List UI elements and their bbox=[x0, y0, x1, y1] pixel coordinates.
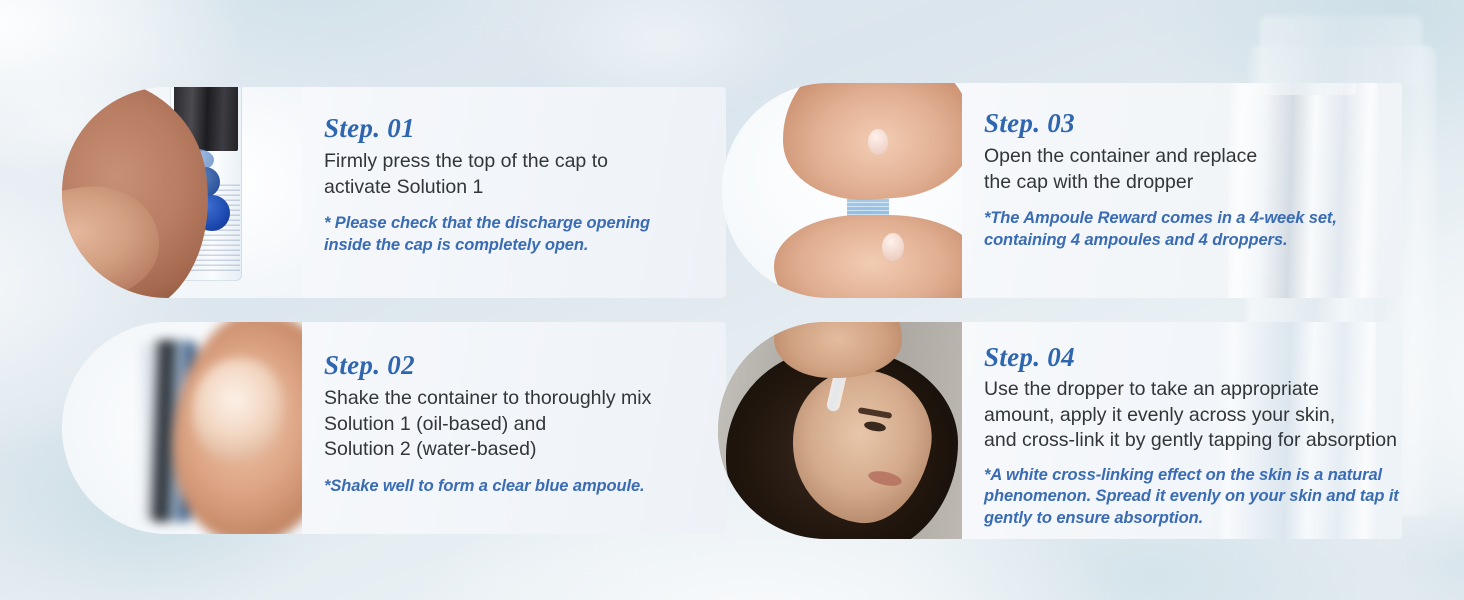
step-card-01: Step. 01 Firmly press the top of the cap… bbox=[62, 87, 726, 298]
step-02-title: Step. 02 bbox=[324, 352, 726, 379]
step-01-image bbox=[62, 87, 302, 298]
step-01-body: Firmly press the top of the cap to activ… bbox=[324, 149, 726, 200]
step-04-title: Step. 04 bbox=[984, 344, 1402, 371]
step-01-text-panel: Step. 01 Firmly press the top of the cap… bbox=[302, 87, 726, 298]
step-03-image bbox=[722, 83, 962, 298]
photo-opening-ampoule-cap bbox=[722, 83, 962, 298]
step-01-note: * Please check that the discharge openin… bbox=[324, 213, 726, 257]
step-card-02: Step. 02 Shake the container to thorough… bbox=[62, 322, 726, 534]
photo-applying-dropper-to-face bbox=[718, 322, 962, 539]
step-02-text-panel: Step. 02 Shake the container to thorough… bbox=[302, 322, 726, 534]
step-02-image bbox=[62, 322, 302, 534]
step-01-title: Step. 01 bbox=[324, 115, 726, 142]
step-03-text-panel: Step. 03 Open the container and replace … bbox=[962, 83, 1402, 298]
step-card-03: Step. 03 Open the container and replace … bbox=[722, 83, 1402, 298]
step-04-image bbox=[718, 322, 962, 539]
step-04-text-panel: Step. 04 Use the dropper to take an appr… bbox=[962, 322, 1402, 539]
step-03-body: Open the container and replace the cap w… bbox=[984, 144, 1402, 195]
step-04-note: *A white cross-linking effect on the ski… bbox=[984, 465, 1402, 530]
step-02-body: Shake the container to thoroughly mix So… bbox=[324, 386, 726, 463]
step-03-title: Step. 03 bbox=[984, 110, 1402, 137]
photo-hand-holding-ampoule bbox=[62, 87, 302, 298]
step-card-04: Step. 04 Use the dropper to take an appr… bbox=[718, 322, 1402, 539]
photo-shaking-ampoule bbox=[62, 322, 302, 534]
step-02-note: *Shake well to form a clear blue ampoule… bbox=[324, 476, 726, 498]
step-04-body: Use the dropper to take an appropriate a… bbox=[984, 377, 1402, 454]
step-03-note: *The Ampoule Reward comes in a 4-week se… bbox=[984, 208, 1402, 252]
